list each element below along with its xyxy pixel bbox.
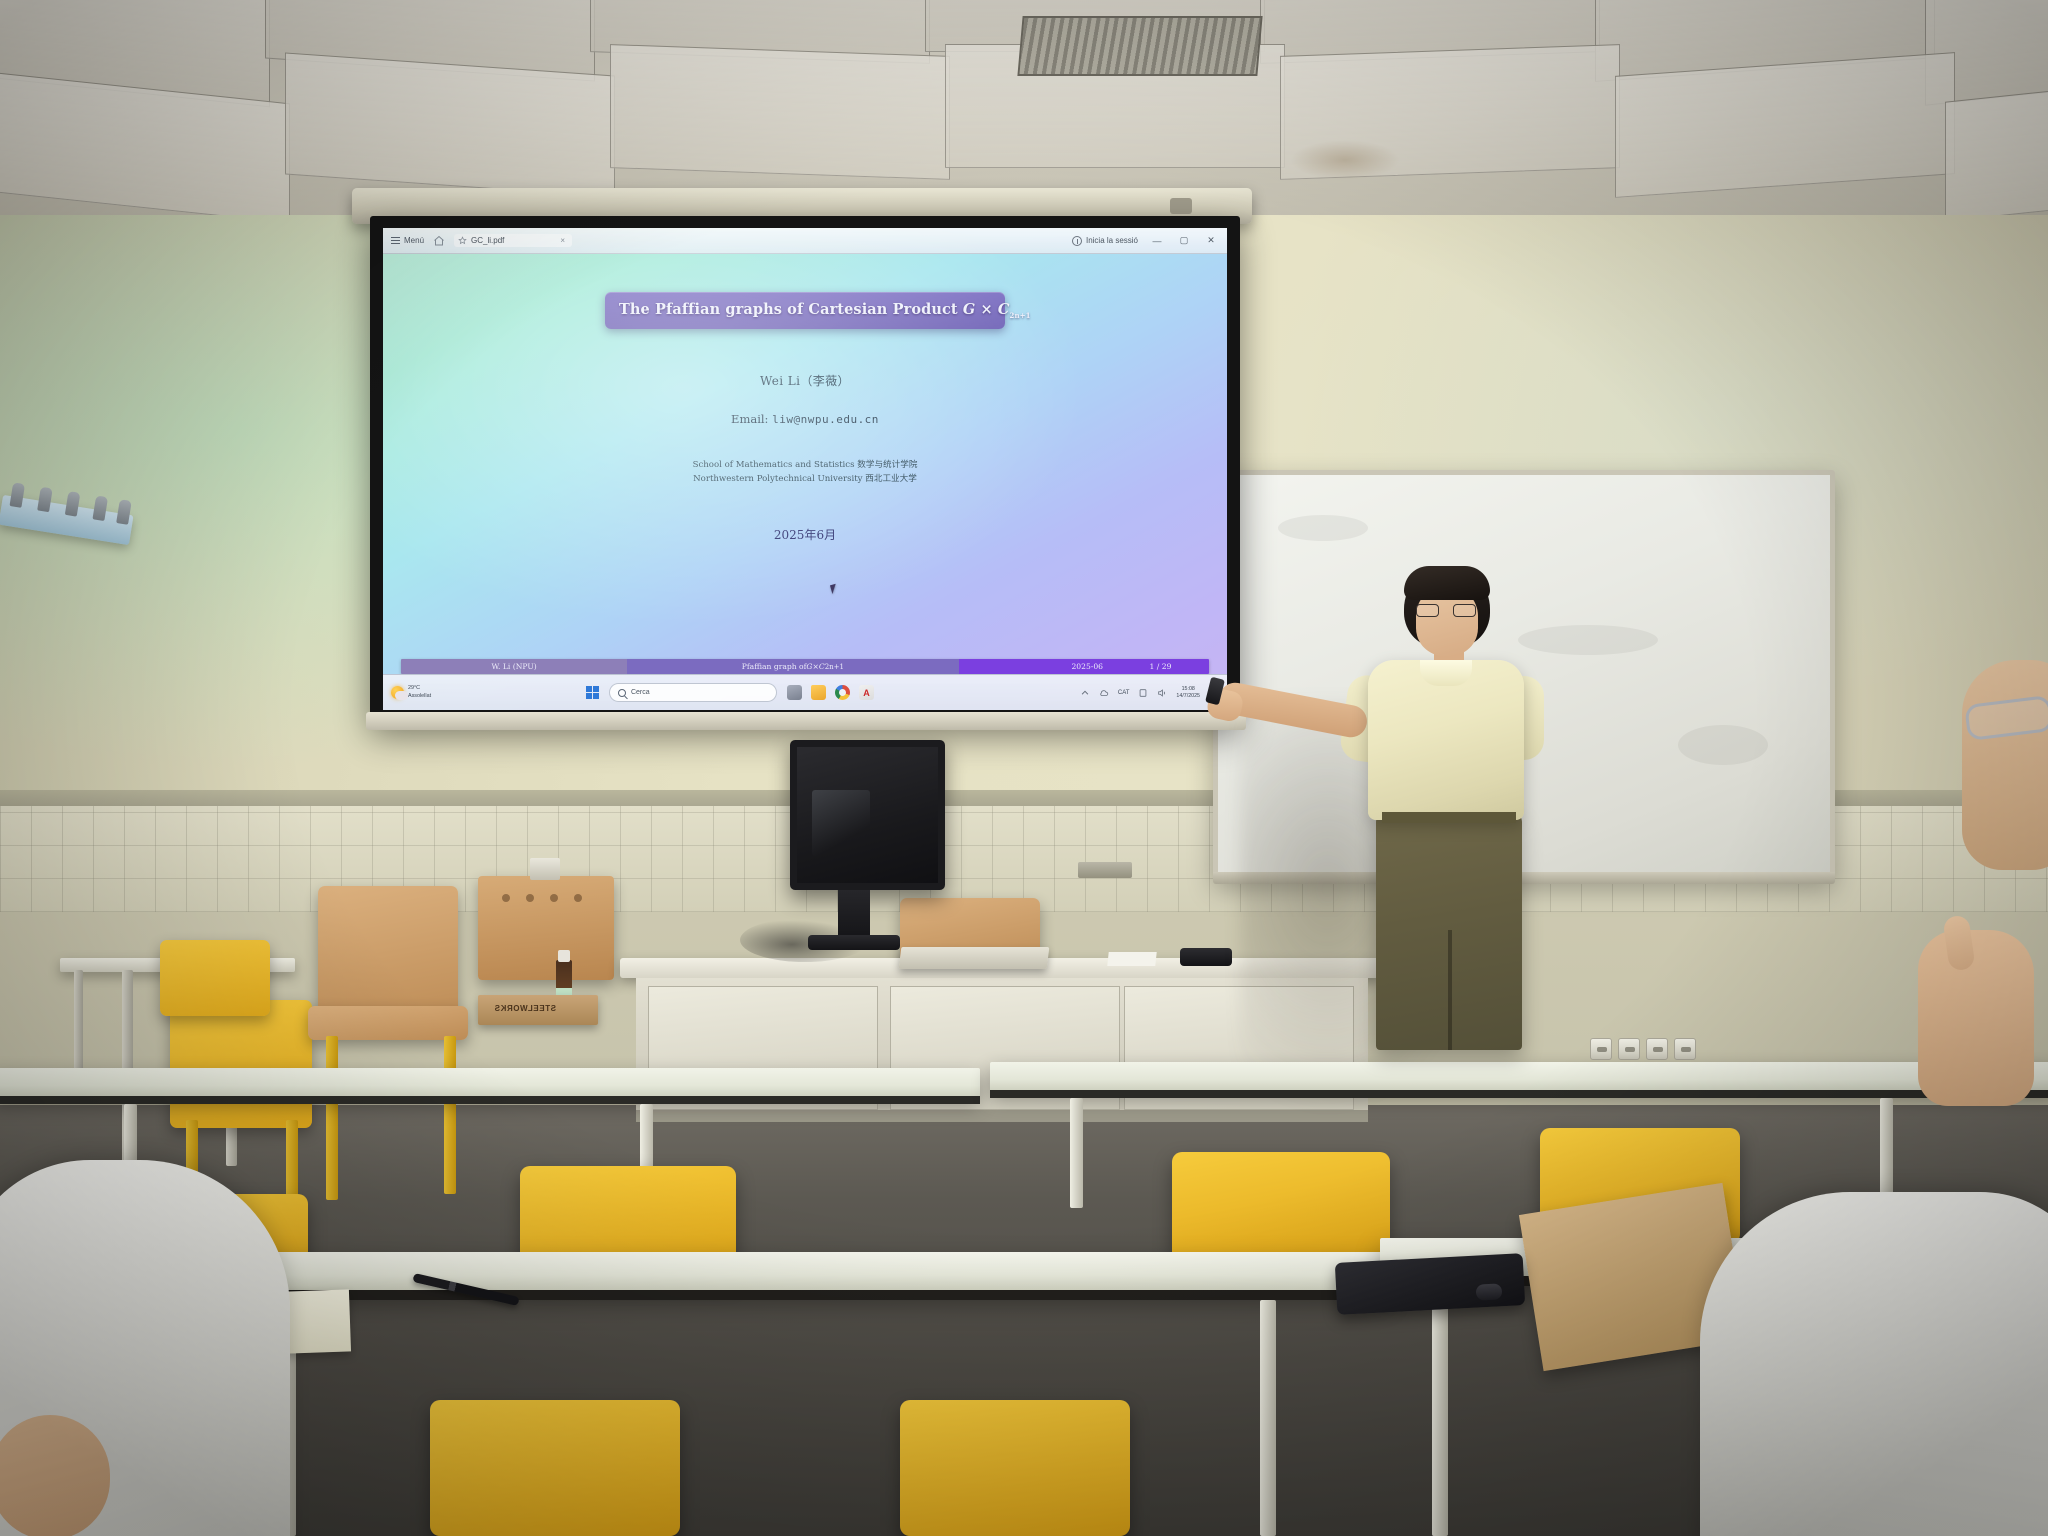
monitor-reflection <box>812 790 870 856</box>
presenter-leg-split <box>1448 930 1452 1050</box>
audience-left-head <box>0 1415 110 1536</box>
chair-yellow-back[interactable] <box>170 1000 312 1128</box>
chair-wood-left[interactable] <box>318 886 458 1022</box>
ceiling-air-vent <box>1017 16 1262 76</box>
weather-condition: Assolellat <box>408 693 431 699</box>
volume-icon[interactable] <box>1157 688 1167 698</box>
star-icon[interactable] <box>458 236 467 245</box>
screen-pull-knob[interactable] <box>1170 198 1192 214</box>
cardboard-box-text: STEELWORKS <box>494 1004 556 1013</box>
audience-right-hand <box>1918 930 2034 1106</box>
mouse-cursor <box>830 583 841 594</box>
windows-start-icon[interactable] <box>586 686 599 699</box>
footer-date: 2025-06 <box>959 659 1113 674</box>
taskbar-search-input[interactable]: Cerca <box>609 683 777 702</box>
student-desk-row2-left <box>236 1252 1386 1294</box>
slide-date: 2025年6月 <box>383 526 1227 543</box>
projection-screen-bottom-bar <box>366 712 1246 730</box>
keyboard-layout-indicator[interactable]: CAT <box>1118 690 1130 696</box>
browser-toolbar: Menú GC_li.pdf × Inicia la sessió — ▢ ✕ <box>383 228 1227 254</box>
pdf-slide: The Pfaffian graphs of Cartesian Product… <box>383 254 1227 674</box>
student-desk-row2-left-edge <box>236 1290 1386 1300</box>
presenter-waistband <box>1382 812 1516 823</box>
black-device-box <box>1180 948 1232 966</box>
slide-title-c: C <box>998 301 1010 318</box>
slide-author: Wei Li（李薇） <box>383 372 1227 389</box>
search-icon <box>618 689 626 697</box>
presenter-hair-fringe <box>1404 566 1490 600</box>
slide-title-text: The Pfaffian graphs of Cartesian Product <box>619 301 963 318</box>
ceiling <box>0 0 2048 215</box>
signin-button[interactable]: Inicia la sessió <box>1072 236 1138 246</box>
slide-email-line: Email: liw@nwpu.edu.cn <box>383 412 1227 426</box>
audience-right-head <box>1962 660 2048 870</box>
cardboard-box: STEELWORKS <box>478 995 598 1025</box>
weather-temp: 29°C <box>408 685 420 691</box>
signin-label: Inicia la sessió <box>1086 236 1138 245</box>
window-minimize-button[interactable]: — <box>1149 236 1165 246</box>
wooden-shelf-unit <box>478 876 614 980</box>
classroom-scene: Menú GC_li.pdf × Inicia la sessió — ▢ ✕ <box>0 0 2048 1536</box>
taskbar-clock[interactable]: 15:08 14/7/2025 <box>1176 686 1200 700</box>
slide-title-box: The Pfaffian graphs of Cartesian Product… <box>605 292 1005 329</box>
audience-member-right <box>1700 1192 2048 1536</box>
task-view-icon[interactable] <box>787 685 802 700</box>
hamburger-menu-icon <box>391 237 400 244</box>
chair-wood-left-seat[interactable] <box>308 1006 468 1040</box>
home-icon[interactable] <box>433 235 445 247</box>
power-socket-3 <box>1646 1038 1668 1060</box>
slide-title-times: × <box>975 301 998 318</box>
student-desk-row1-left-edge <box>0 1096 980 1104</box>
browser-tab[interactable]: GC_li.pdf × <box>454 234 572 247</box>
email-label: Email: <box>731 412 772 426</box>
power-socket-1 <box>1590 1038 1612 1060</box>
affiliation-line-2: Northwestern Polytechnical University 西北… <box>383 472 1227 486</box>
slide-title-subscript: 2n+1 <box>1010 311 1031 320</box>
search-placeholder: Cerca <box>631 689 650 696</box>
slide-footer-bar: W. Li (NPU) Pfaffian graph of G × C2n+1 … <box>401 659 1209 674</box>
footer-page-number: 1 / 29 <box>1112 659 1209 674</box>
footer-author: W. Li (NPU) <box>401 659 627 674</box>
paper-sheet-on-desk <box>1107 952 1156 966</box>
monitor-stand-base <box>808 935 900 950</box>
account-icon <box>1072 236 1082 246</box>
acrobat-reader-icon[interactable] <box>859 685 874 700</box>
browser-tab-title: GC_li.pdf <box>471 236 504 245</box>
chevron-up-icon[interactable] <box>1080 688 1090 698</box>
footer-title: Pfaffian graph of G × C2n+1 <box>627 659 958 674</box>
chrome-icon[interactable] <box>835 685 850 700</box>
chair-front-row2-a[interactable] <box>430 1400 680 1536</box>
phone-camera-module <box>1476 1283 1503 1300</box>
windows-taskbar: 29°C Assolellat Cerca CAT <box>383 674 1227 710</box>
sun-icon <box>391 686 404 699</box>
window-close-button[interactable]: ✕ <box>1203 235 1219 246</box>
chair-yellow-back-2[interactable] <box>160 940 270 1016</box>
clock-date: 14/7/2025 <box>1176 693 1200 699</box>
browser-menu-label: Menú <box>404 236 424 245</box>
window-maximize-button[interactable]: ▢ <box>1176 235 1192 246</box>
affiliation-line-1: School of Mathematics and Statistics 数学与… <box>383 458 1227 472</box>
power-socket-2 <box>1618 1038 1640 1060</box>
taskbar-weather-widget[interactable]: 29°C Assolellat <box>391 685 483 699</box>
presenter-collar <box>1420 660 1472 686</box>
monitor-stand-neck <box>838 890 870 938</box>
chair-front-row1-c[interactable] <box>1172 1152 1390 1262</box>
ceiling-water-stain <box>1290 140 1400 180</box>
email-value: liw@nwpu.edu.cn <box>772 413 879 426</box>
network-icon[interactable] <box>1138 688 1148 698</box>
power-socket-4 <box>1674 1038 1696 1060</box>
browser-menu-button[interactable]: Menú <box>391 236 424 245</box>
slide-affiliation: School of Mathematics and Statistics 数学与… <box>383 458 1227 486</box>
bottle-pump-cap <box>558 950 570 962</box>
student-desk-row1-right-edge <box>990 1090 2048 1098</box>
paper-cup-stack <box>530 858 560 880</box>
chair-front-row2-b[interactable] <box>900 1400 1130 1536</box>
keyboard[interactable] <box>899 947 1050 969</box>
tab-close-icon[interactable]: × <box>560 236 565 245</box>
clock-time: 15:08 <box>1182 686 1195 692</box>
cloud-icon[interactable] <box>1099 688 1109 698</box>
projection-screen-surface: Menú GC_li.pdf × Inicia la sessió — ▢ ✕ <box>383 228 1227 710</box>
system-tray: CAT 15:08 14/7/2025 <box>1080 686 1219 700</box>
grey-wall-box <box>1078 862 1132 878</box>
file-explorer-icon[interactable] <box>811 685 826 700</box>
slide-title: The Pfaffian graphs of Cartesian Product… <box>619 301 991 320</box>
presenter-glasses <box>1416 604 1476 617</box>
slide-title-g: G <box>963 301 975 318</box>
